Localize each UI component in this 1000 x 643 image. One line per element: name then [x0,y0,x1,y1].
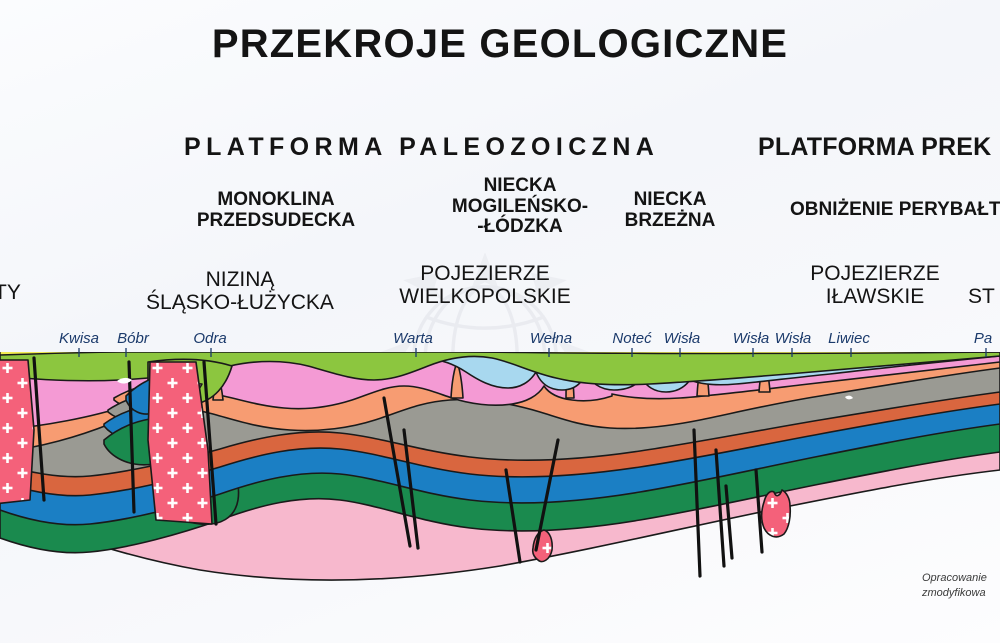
river-label: Wisła [664,330,701,347]
credit-note: Opracowanie zmodyfikowa [922,571,987,601]
river-label: Wisła [775,330,812,347]
crystalline-intrusion-right [762,490,791,537]
river-label: Odra [193,330,226,347]
river-label: Wełna [530,330,572,347]
river-label: Kwisa [59,330,99,347]
credit-line-2: zmodyfikowa [922,586,987,601]
geological-cross-section-figure: Mapy i Atlas PRZEKROJE GEOLOGICZNE PLATF… [0,0,1000,643]
river-label: Wisła [733,330,770,347]
credit-line-1: Opracowanie [922,571,987,586]
river-label: Noteć [612,330,651,347]
river-label: Bóbr [117,330,149,347]
cross-section-drawing [0,0,1000,643]
river-label: Pa [974,330,992,347]
crystalline-block-left-edge [0,360,34,504]
river-label: Liwiec [828,330,870,347]
river-label: Warta [393,330,433,347]
